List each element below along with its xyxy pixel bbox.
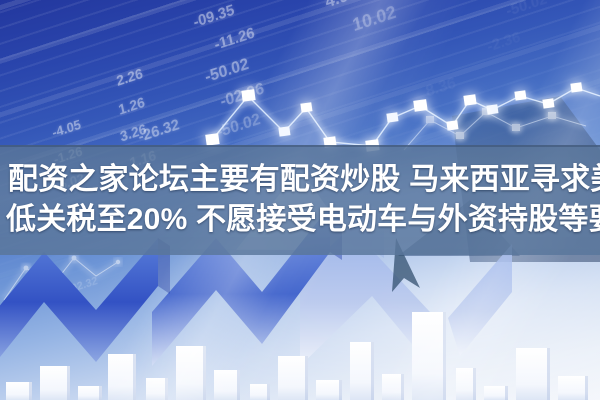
headline-block: 配资之家论坛主要有配资炒股 马来西亚寻求美方降 低关税至20% 不愿接受电动车与…: [0, 145, 600, 255]
headline-line-2: 低关税至20% 不愿接受电动车与外资持股等要求: [6, 200, 594, 240]
headline-banner-image: -25.98-45.024.9610.02-09.35-11.26+5.02-0…: [0, 0, 600, 400]
headline-line-1: 配资之家论坛主要有配资炒股 马来西亚寻求美方降: [6, 160, 594, 200]
